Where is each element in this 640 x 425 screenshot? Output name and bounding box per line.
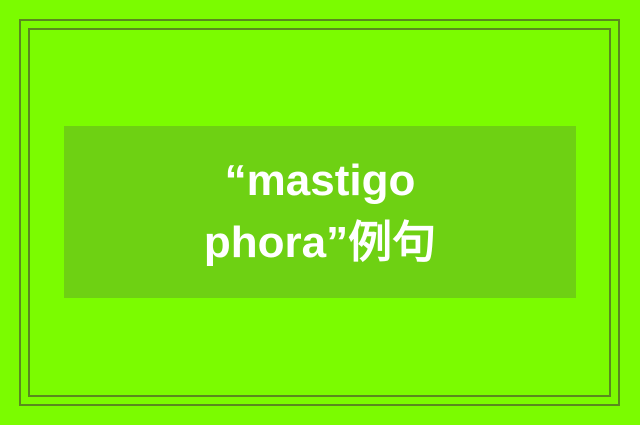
title-line-1: “mastigo	[225, 150, 416, 212]
poster-canvas: “mastigo phora”例句	[0, 0, 640, 425]
title-panel: “mastigo phora”例句	[64, 126, 576, 298]
title-line-2: phora”例句	[204, 212, 436, 274]
